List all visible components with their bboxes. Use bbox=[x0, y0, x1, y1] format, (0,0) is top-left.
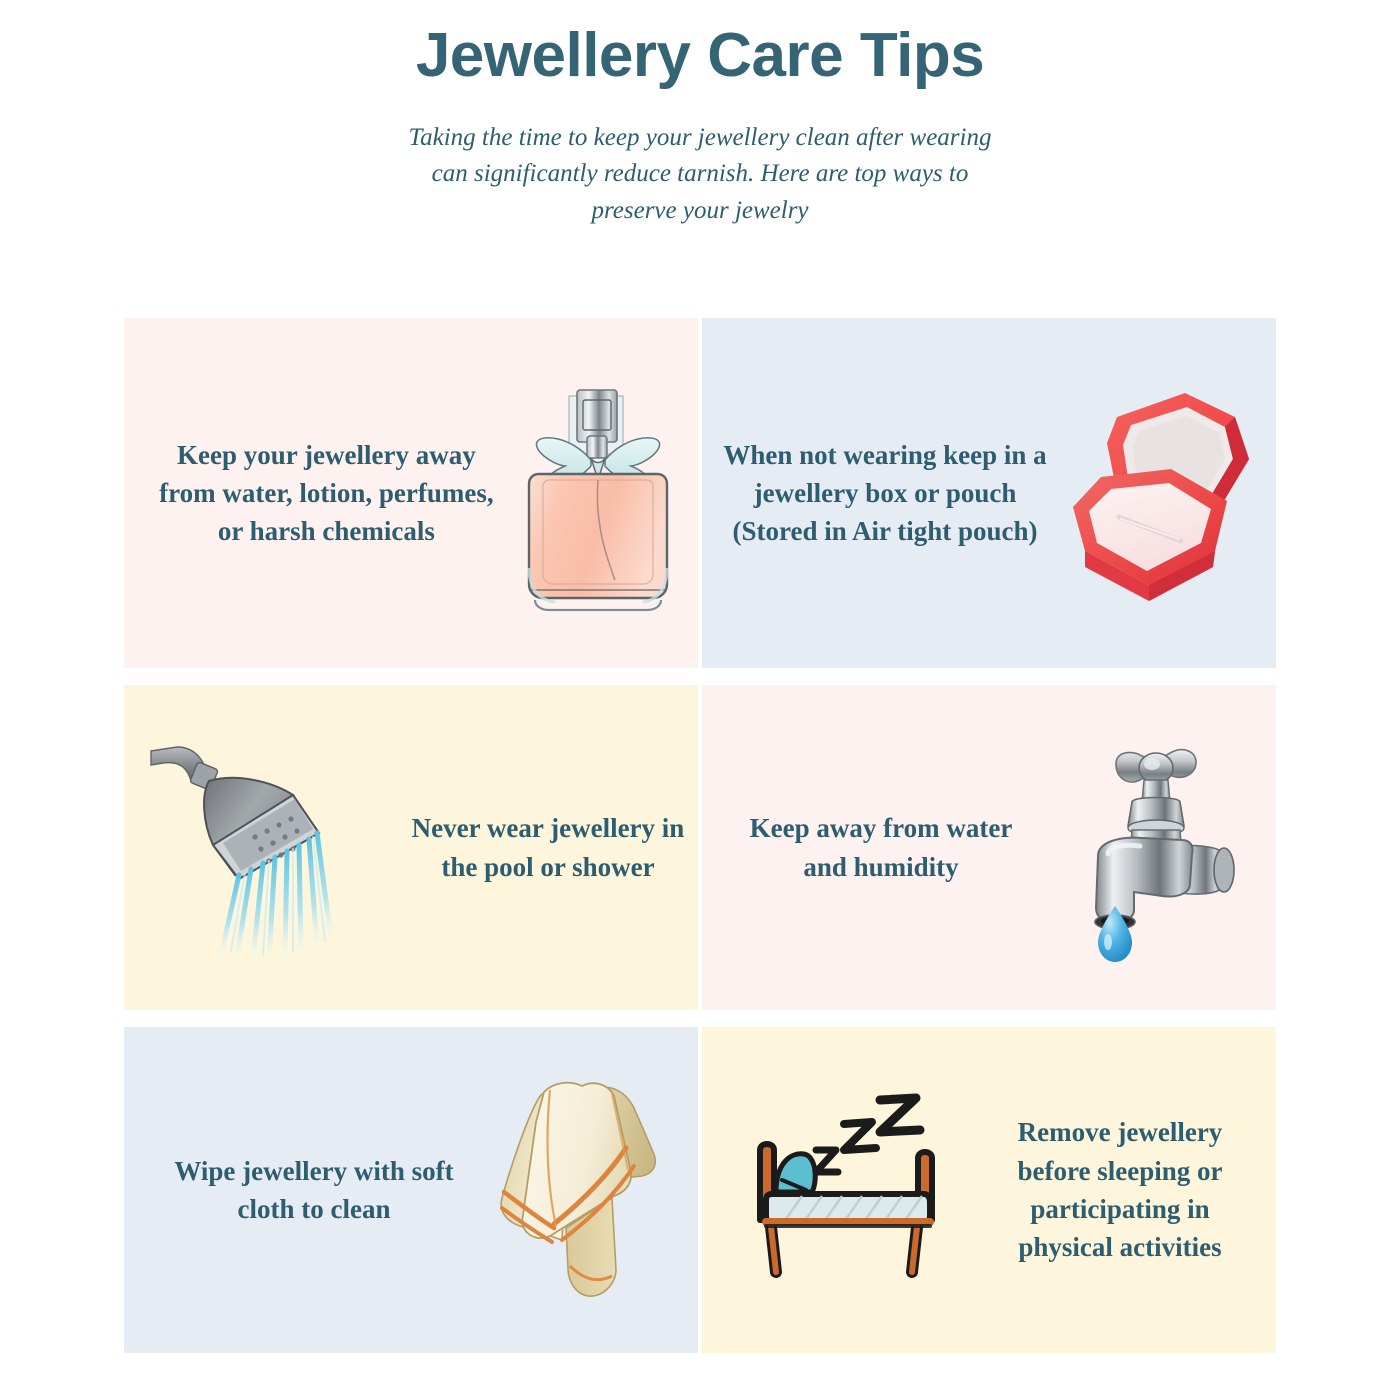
tips-grid: Keep your jewellery away from water, lot… bbox=[124, 318, 1276, 1353]
sleeping-bed-icon bbox=[722, 1088, 972, 1293]
infographic-page: Jewellery Care Tips Taking the time to k… bbox=[0, 0, 1400, 1400]
tip-card-jewellery-box: When not wearing keep in a jewellery box… bbox=[702, 318, 1276, 668]
cleaning-cloth-icon bbox=[474, 1070, 694, 1310]
tip-card-bed-text: Remove jewellery before sleeping or part… bbox=[980, 1113, 1260, 1266]
tip-card-faucet: Keep away from water and humidity bbox=[702, 685, 1276, 1010]
header: Jewellery Care Tips Taking the time to k… bbox=[0, 0, 1400, 229]
tip-card-jewellery-box-text: When not wearing keep in a jewellery box… bbox=[720, 436, 1050, 551]
page-title: Jewellery Care Tips bbox=[0, 22, 1400, 90]
tip-card-faucet-text: Keep away from water and humidity bbox=[736, 809, 1026, 886]
tip-card-cloth-text: Wipe jewellery with soft cloth to clean bbox=[164, 1152, 464, 1229]
tip-card-perfume-text: Keep your jewellery away from water, lot… bbox=[152, 436, 501, 551]
tip-card-perfume: Keep your jewellery away from water, lot… bbox=[124, 318, 698, 668]
page-subtitle: Taking the time to keep your jewellery c… bbox=[390, 120, 1010, 229]
tip-card-shower: Never wear jewellery in the pool or show… bbox=[124, 685, 698, 1010]
shower-head-icon bbox=[138, 733, 388, 963]
tip-card-shower-text: Never wear jewellery in the pool or show… bbox=[398, 809, 698, 886]
jewellery-box-icon bbox=[1056, 381, 1276, 606]
tip-card-cloth: Wipe jewellery with soft cloth to clean bbox=[124, 1027, 698, 1353]
faucet-icon bbox=[1036, 728, 1276, 968]
perfume-bottle-icon bbox=[499, 368, 698, 618]
tip-card-bed: Remove jewellery before sleeping or part… bbox=[702, 1027, 1276, 1353]
